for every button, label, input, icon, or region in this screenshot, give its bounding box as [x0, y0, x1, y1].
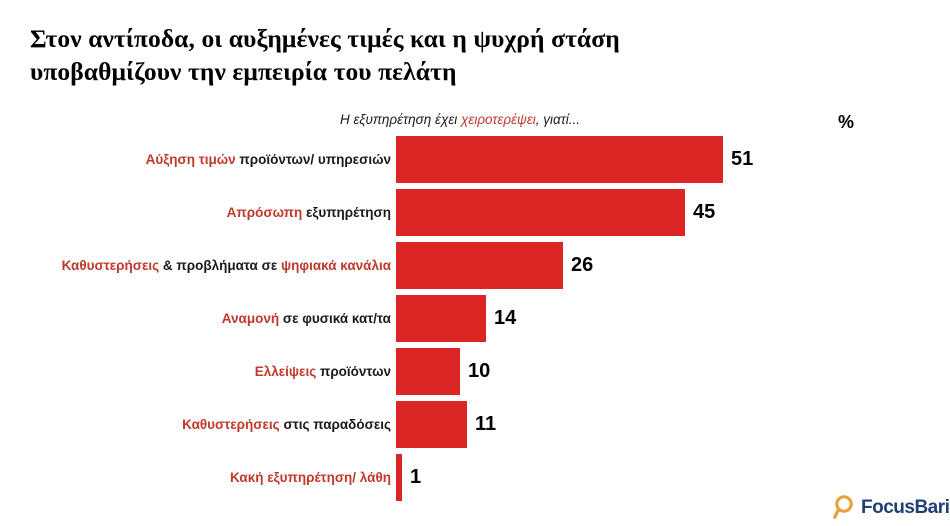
bar: [396, 136, 723, 183]
bar-row-label-segment: εξυπηρέτηση: [306, 205, 391, 220]
bar-row-label: Αναμονή σε φυσικά κατ/τα: [222, 295, 395, 342]
bar-row-label: Αύξηση τιμών προϊόντων/ υπηρεσιών: [146, 136, 395, 183]
bar: [396, 454, 402, 501]
bar: [396, 401, 467, 448]
bar-chart-row: Αναμονή σε φυσικά κατ/τα14: [0, 295, 950, 342]
bar: [396, 189, 685, 236]
focusbari-logo-text: FocusBari: [861, 498, 949, 517]
bar-row-label-segment: προϊόντων: [320, 364, 391, 379]
focusbari-logo: FocusBari: [833, 492, 945, 522]
page-title-line-1: Στον αντίποδα, οι αυξημένες τιμές και η …: [30, 22, 910, 55]
bar-row-label-segment: Απρόσωπη: [227, 205, 306, 220]
bar-row-label-segment: Αναμονή: [222, 311, 283, 326]
bar-chart-row: Καθυστερήσεις στις παραδόσεις11: [0, 401, 950, 448]
bar-value-label: 11: [475, 401, 496, 448]
bar-chart-row: Απρόσωπη εξυπηρέτηση45: [0, 189, 950, 236]
bar-value-label: 14: [494, 295, 516, 342]
bar-row-label-segment: ψηφιακά κανάλια: [281, 258, 391, 273]
chart-subtitle: Η εξυπηρέτηση έχει χειροτερέψει, γιατί..…: [340, 112, 580, 127]
bar: [396, 242, 563, 289]
bar-row-label-segment: Καθυστερήσεις: [62, 258, 163, 273]
bar-value-label: 1: [410, 454, 421, 501]
bar-row-label-segment: & προβλήματα σε: [163, 258, 281, 273]
bar-row-label: Ελλείψεις προϊόντων: [255, 348, 395, 395]
bar-row-label-segment: σε φυσικά κατ/τα: [283, 311, 391, 326]
logo-text-bari: Bari: [914, 497, 949, 518]
bar-row-label: Καθυστερήσεις & προβλήματα σε ψηφιακά κα…: [62, 242, 395, 289]
bar-value-label: 10: [468, 348, 490, 395]
bar-row-label-segment: Ελλείψεις: [255, 364, 320, 379]
bar-row-label: Κακή εξυπηρέτηση/ λάθη: [230, 454, 395, 501]
logo-text-focus: Focus: [861, 497, 914, 518]
bar-row-label-segment: προϊόντων/ υπηρεσιών: [239, 152, 391, 167]
bar-row-label: Απρόσωπη εξυπηρέτηση: [227, 189, 395, 236]
bar-row-label-segment: στις παραδόσεις: [283, 417, 391, 432]
page-title: Στον αντίποδα, οι αυξημένες τιμές και η …: [30, 22, 910, 88]
magnifying-glass-icon: [833, 494, 859, 520]
bar-row-label: Καθυστερήσεις στις παραδόσεις: [182, 401, 395, 448]
chart-subtitle-prefix: Η εξυπηρέτηση έχει: [340, 112, 461, 127]
bar-value-label: 51: [731, 136, 753, 183]
bar-chart-row: Καθυστερήσεις & προβλήματα σε ψηφιακά κα…: [0, 242, 950, 289]
bar-value-label: 45: [693, 189, 715, 236]
bar-row-label-segment: Καθυστερήσεις: [182, 417, 283, 432]
bar-row-label-segment: Κακή εξυπηρέτηση/ λάθη: [230, 470, 391, 485]
page-title-line-2: υποβαθμίζουν την εμπειρία του πελάτη: [30, 55, 910, 88]
bar-chart: Αύξηση τιμών προϊόντων/ υπηρεσιών51Απρόσ…: [0, 136, 950, 516]
percent-axis-label: %: [838, 112, 854, 133]
bar-value-label: 26: [571, 242, 593, 289]
bar-chart-row: Ελλείψεις προϊόντων10: [0, 348, 950, 395]
bar-chart-row: Κακή εξυπηρέτηση/ λάθη1: [0, 454, 950, 501]
bar-chart-row: Αύξηση τιμών προϊόντων/ υπηρεσιών51: [0, 136, 950, 183]
bar: [396, 295, 486, 342]
chart-subtitle-suffix: , γιατί...: [536, 112, 580, 127]
bar: [396, 348, 460, 395]
bar-row-label-segment: Αύξηση τιμών: [146, 152, 240, 167]
chart-subtitle-highlight: χειροτερέψει: [461, 112, 536, 127]
